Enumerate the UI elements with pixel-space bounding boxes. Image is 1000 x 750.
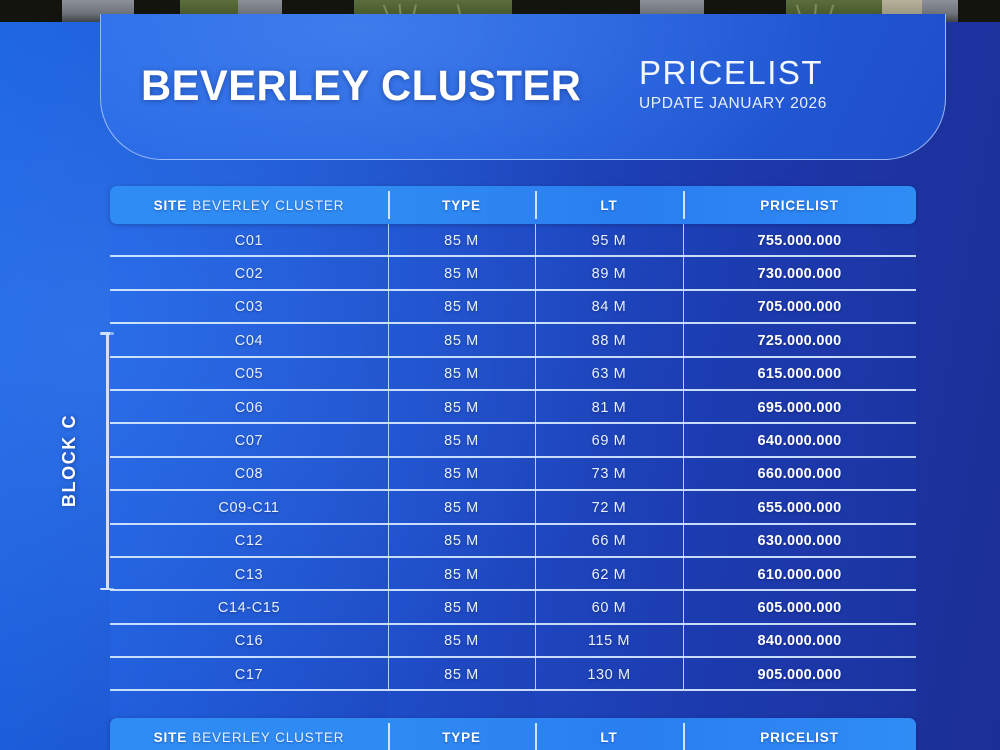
cell-site: C17	[110, 658, 388, 691]
block-label: BLOCK C	[60, 413, 81, 506]
table-row: C0185 M95 M755.000.000	[110, 224, 916, 257]
footer-column-type: TYPE	[388, 718, 535, 750]
footer-column-site-strong: SITE	[154, 730, 188, 745]
cell-lt: 62 M	[535, 558, 683, 591]
cell-site: C01	[110, 224, 388, 257]
cell-type: 85 M	[388, 324, 535, 357]
table-row: C14-C1585 M60 M605.000.000	[110, 591, 916, 624]
table-row: C0785 M69 M640.000.000	[110, 424, 916, 457]
table-footer-header-wrap: SITE BEVERLEY CLUSTER TYPE LT PRICELIST	[110, 718, 916, 750]
cell-site: C04	[110, 324, 388, 357]
pricelist-label: PRICELIST	[639, 56, 823, 91]
cell-site: C12	[110, 525, 388, 558]
table-row: C0585 M63 M615.000.000	[110, 358, 916, 391]
cell-pricelist: 840.000.000	[683, 625, 916, 658]
header-subtitle-group: PRICELIST UPDATE JANUARY 2026	[639, 56, 827, 117]
cell-lt: 130 M	[535, 658, 683, 691]
cell-site: C09-C11	[110, 491, 388, 524]
block-label-container: BLOCK C	[48, 330, 92, 590]
cell-lt: 63 M	[535, 358, 683, 391]
table-row: C1385 M62 M610.000.000	[110, 558, 916, 591]
cell-pricelist: 755.000.000	[683, 224, 916, 257]
table-row: C1785 M130 M905.000.000	[110, 658, 916, 691]
cell-lt: 66 M	[535, 525, 683, 558]
footer-column-site-light: BEVERLEY CLUSTER	[192, 730, 344, 745]
cell-lt: 73 M	[535, 458, 683, 491]
header-card: BEVERLEY CLUSTER PRICELIST UPDATE JANUAR…	[100, 14, 946, 160]
cell-pricelist: 725.000.000	[683, 324, 916, 357]
cell-type: 85 M	[388, 458, 535, 491]
table-row: C0685 M81 M695.000.000	[110, 391, 916, 424]
cell-lt: 95 M	[535, 224, 683, 257]
table-header-row: SITE BEVERLEY CLUSTER TYPE LT PRICELIST	[110, 186, 916, 224]
cell-pricelist: 730.000.000	[683, 257, 916, 290]
cell-type: 85 M	[388, 291, 535, 324]
cell-pricelist: 615.000.000	[683, 358, 916, 391]
cell-site: C14-C15	[110, 591, 388, 624]
column-header-pricelist: PRICELIST	[683, 186, 916, 224]
column-header-site: SITE BEVERLEY CLUSTER	[110, 186, 388, 224]
cell-type: 85 M	[388, 491, 535, 524]
cell-pricelist: 630.000.000	[683, 525, 916, 558]
column-header-site-strong: SITE	[154, 198, 188, 213]
cell-pricelist: 705.000.000	[683, 291, 916, 324]
table-row: C1685 M115 M840.000.000	[110, 625, 916, 658]
table-body: C0185 M95 M755.000.000C0285 M89 M730.000…	[110, 224, 916, 691]
cell-lt: 69 M	[535, 424, 683, 457]
table-row: C1285 M66 M630.000.000	[110, 525, 916, 558]
cell-site: C07	[110, 424, 388, 457]
cell-lt: 72 M	[535, 491, 683, 524]
cell-type: 85 M	[388, 424, 535, 457]
update-date-label: UPDATE JANUARY 2026	[639, 95, 827, 113]
page-title: BEVERLEY CLUSTER	[141, 65, 581, 108]
cell-type: 85 M	[388, 625, 535, 658]
cell-site: C05	[110, 358, 388, 391]
cell-site: C02	[110, 257, 388, 290]
cell-type: 85 M	[388, 558, 535, 591]
cell-lt: 115 M	[535, 625, 683, 658]
cell-type: 85 M	[388, 591, 535, 624]
cell-lt: 81 M	[535, 391, 683, 424]
cell-pricelist: 610.000.000	[683, 558, 916, 591]
table-row: C0485 M88 M725.000.000	[110, 324, 916, 357]
table-row: C0385 M84 M705.000.000	[110, 291, 916, 324]
cell-lt: 84 M	[535, 291, 683, 324]
column-header-site-light: BEVERLEY CLUSTER	[192, 198, 344, 213]
cell-lt: 60 M	[535, 591, 683, 624]
column-header-type: TYPE	[388, 186, 535, 224]
pricelist-page: BEVERLEY CLUSTER PRICELIST UPDATE JANUAR…	[0, 0, 1000, 750]
pricelist-table: SITE BEVERLEY CLUSTER TYPE LT PRICELIST …	[110, 186, 916, 691]
cell-site: C13	[110, 558, 388, 591]
cell-type: 85 M	[388, 391, 535, 424]
cell-type: 85 M	[388, 358, 535, 391]
cell-pricelist: 695.000.000	[683, 391, 916, 424]
table-row: C0285 M89 M730.000.000	[110, 257, 916, 290]
cell-site: C16	[110, 625, 388, 658]
cell-pricelist: 605.000.000	[683, 591, 916, 624]
cell-lt: 89 M	[535, 257, 683, 290]
cell-lt: 88 M	[535, 324, 683, 357]
cell-pricelist: 640.000.000	[683, 424, 916, 457]
column-header-lt: LT	[535, 186, 683, 224]
cell-site: C03	[110, 291, 388, 324]
cell-type: 85 M	[388, 525, 535, 558]
table-row: C09-C1185 M72 M655.000.000	[110, 491, 916, 524]
cell-type: 85 M	[388, 224, 535, 257]
cell-site: C08	[110, 458, 388, 491]
footer-column-pricelist: PRICELIST	[683, 718, 916, 750]
cell-site: C06	[110, 391, 388, 424]
cell-pricelist: 655.000.000	[683, 491, 916, 524]
table-footer-row: SITE BEVERLEY CLUSTER TYPE LT PRICELIST	[110, 718, 916, 750]
cell-pricelist: 905.000.000	[683, 658, 916, 691]
cell-pricelist: 660.000.000	[683, 458, 916, 491]
footer-column-site: SITE BEVERLEY CLUSTER	[110, 718, 388, 750]
table-row: C0885 M73 M660.000.000	[110, 458, 916, 491]
cell-type: 85 M	[388, 658, 535, 691]
cell-type: 85 M	[388, 257, 535, 290]
footer-column-lt: LT	[535, 718, 683, 750]
